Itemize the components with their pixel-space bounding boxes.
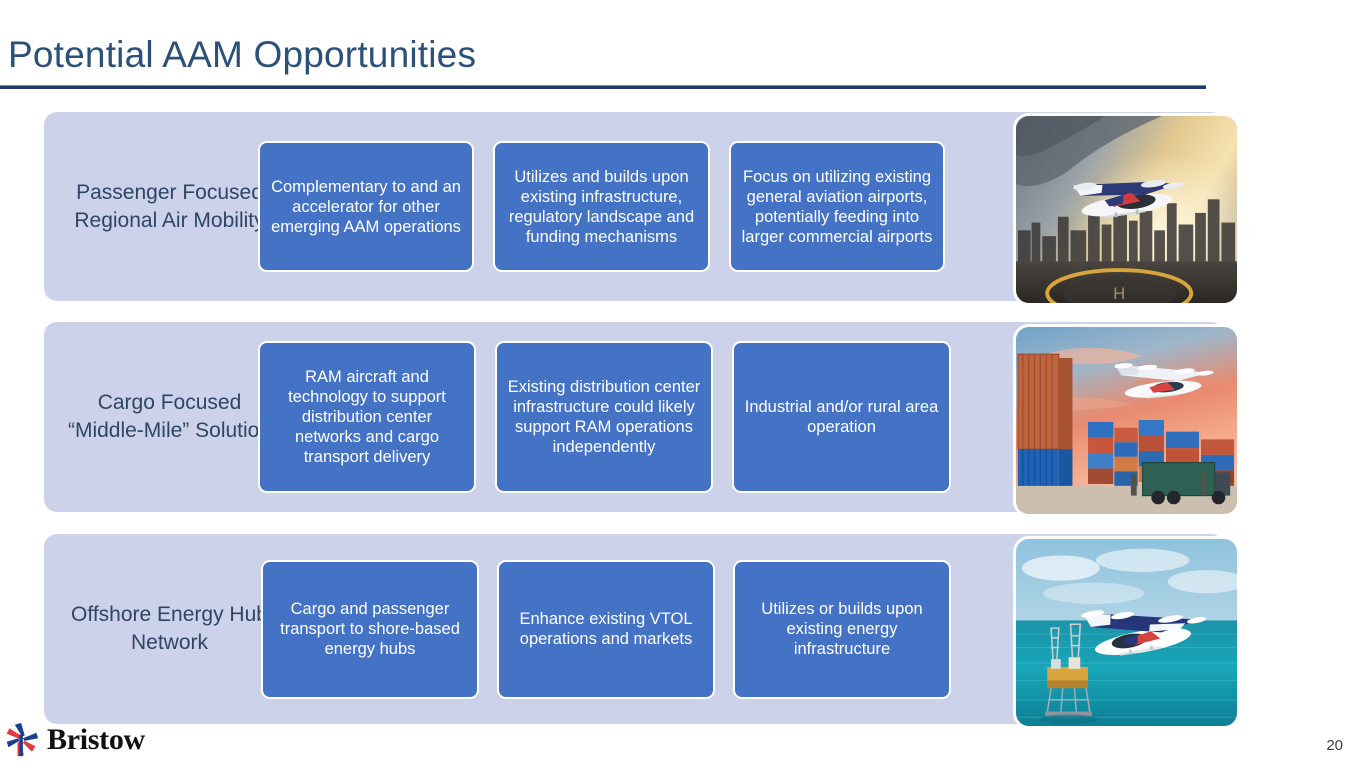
opportunity-card[interactable]: Enhance existing VTOL operations and mar… [497, 560, 715, 699]
opportunity-card[interactable]: Industrial and/or rural area operation [732, 341, 951, 493]
opportunity-card[interactable]: Complementary to and an accelerator for … [258, 141, 474, 272]
opportunity-card[interactable]: RAM aircraft and technology to support d… [258, 341, 476, 493]
opportunity-card[interactable]: Focus on utilizing existing general avia… [729, 141, 945, 272]
brand-name: Bristow [47, 723, 145, 757]
opportunity-card[interactable]: Existing distribution center infrastruct… [495, 341, 713, 493]
evtol-over-city-helipad-photo: H [1013, 113, 1240, 306]
row-label: Offshore Energy Hub Network [62, 601, 277, 657]
evtol-over-cargo-containers-photo [1013, 324, 1240, 517]
bristow-pinwheel-icon [4, 722, 40, 758]
slide: Potential AAM Opportunities Passenger Fo… [0, 0, 1365, 768]
page-number: 20 [1326, 737, 1343, 754]
title-underline-rule [0, 85, 1206, 89]
row-label: Cargo Focused “Middle-Mile” Solution [62, 389, 277, 445]
opportunity-card[interactable]: Utilizes or builds upon existing energy … [733, 560, 951, 699]
row-label: Passenger Focused Regional Air Mobility [62, 179, 277, 235]
brand-logo: Bristow [4, 722, 145, 758]
opportunity-card[interactable]: Utilizes and builds upon existing infras… [493, 141, 710, 272]
page-title: Potential AAM Opportunities [8, 34, 476, 76]
opportunity-card[interactable]: Cargo and passenger transport to shore-b… [261, 560, 479, 699]
svg-text:H: H [1113, 285, 1125, 303]
evtol-over-offshore-rig-photo [1013, 536, 1240, 729]
